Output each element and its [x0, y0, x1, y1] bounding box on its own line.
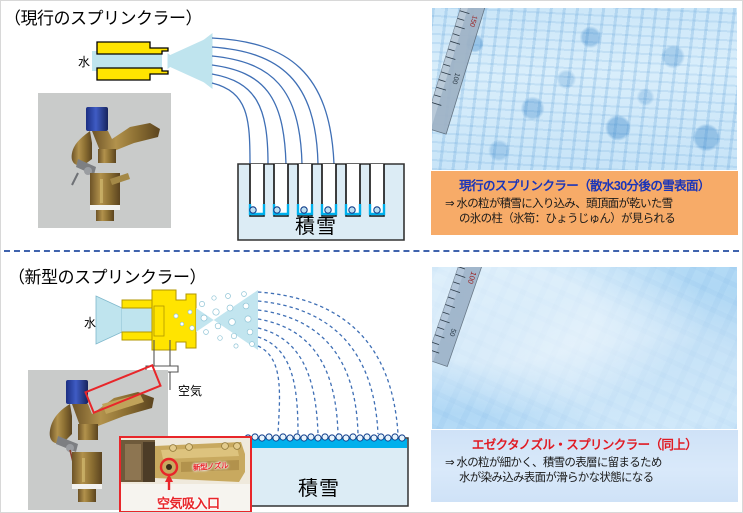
nozzle-body-upper	[97, 42, 168, 54]
water-inlet-cone	[96, 296, 122, 344]
spray-cone-fill	[168, 36, 212, 86]
air-label: 空気	[178, 382, 202, 399]
label-air-intake: 空気吸入口	[157, 493, 220, 512]
spray-arcs-dashed	[258, 292, 398, 434]
caption-line-1: ⇒ 水の粒が細かく、積雪の表層に留まるため	[445, 457, 662, 469]
blue-cap	[86, 107, 108, 131]
photo-snow-surface-ice-columns: 150 100	[431, 7, 738, 171]
ruler-icon: 100 50	[432, 267, 490, 367]
panel-title-new-sprinkler: （新型のスプリンクラー）	[8, 263, 206, 288]
ruler-icon: 150 100	[432, 8, 495, 134]
snow-label-bottom: 積雪	[298, 472, 340, 501]
snow-label-top: 積雪	[295, 210, 337, 239]
nozzle-body-lower	[97, 68, 168, 80]
caption-new-sprinkler: エゼクタノズル・スプリンクラー（同上） ⇒ 水の粒が細かく、積雪の表層に留まるた…	[431, 430, 738, 502]
caption-title-new: エゼクタノズル・スプリンクラー（同上）	[437, 434, 732, 453]
caption-body-new: ⇒ 水の粒が細かく、積雪の表層に留まるため 水が染み込み表面が滑らかな状態になる	[437, 456, 732, 486]
caption-title-current: 現行のスプリンクラー（散水30分後の雪表面）	[437, 175, 732, 194]
caption-line-1: ⇒ 水の粒が積雪に入り込み、頭頂面が乾いた雪	[445, 198, 672, 210]
figure-slide: （現行のスプリンクラー）	[0, 0, 743, 513]
surface-droplets	[245, 434, 405, 441]
caption-line-2: の氷の柱（氷筍：ひょうじゅん）が見られる	[445, 212, 732, 227]
water-label-top: 水	[78, 53, 90, 70]
photo-snow-surface-smooth: 100 50	[431, 266, 738, 430]
caption-line-2: 水が染み込み表面が滑らかな状態になる	[445, 471, 732, 486]
caption-current-sprinkler: 現行のスプリンクラー（散水30分後の雪表面） ⇒ 水の粒が積雪に入り込み、頭頂面…	[431, 171, 738, 235]
photo-current-sprinkler	[38, 93, 171, 228]
spray-arcs	[212, 38, 334, 164]
panel-divider	[4, 250, 739, 252]
photo-nozzle-closeup-inset: 新型ノズル 空気吸入口	[119, 436, 252, 513]
caption-body-current: ⇒ 水の粒が積雪に入り込み、頭頂面が乾いた雪 の氷の柱（氷筍：ひょうじゅん）が見…	[437, 197, 732, 227]
water-label-bottom: 水	[84, 314, 96, 331]
